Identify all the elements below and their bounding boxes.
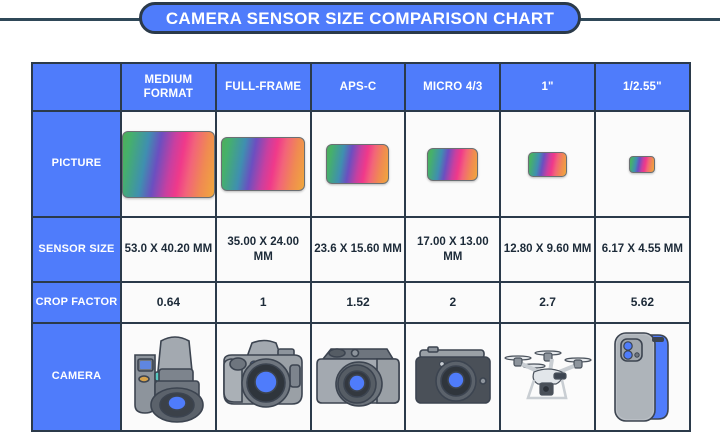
sensor-size-micro-43: 17.00 X 13.00 MM (405, 217, 500, 282)
header-corner-cell (32, 63, 121, 111)
micro-43-sensor-swatch (427, 148, 478, 181)
sensor-swatch-cell-medium-format (121, 111, 216, 217)
table-row-sensor-size: SENSOR SIZE 53.0 X 40.20 MM 35.00 X 24.0… (32, 217, 690, 282)
column-header-one-inch: 1" (500, 63, 595, 111)
crop-factor-medium-format: 0.64 (121, 282, 216, 323)
sensor-swatch-cell-micro-43 (405, 111, 500, 217)
sensor-size-one-2-55: 6.17 X 4.55 MM (595, 217, 690, 282)
crop-factor-one-2-55: 5.62 (595, 282, 690, 323)
medium-format-camera-illustration (125, 329, 211, 425)
crop-factor-one-inch: 2.7 (500, 282, 595, 323)
one-2-55-sensor-swatch (629, 156, 655, 173)
sensor-swatch-cell-one-inch (500, 111, 595, 217)
camera-cell-one-inch (500, 323, 595, 431)
camera-cell-one-2-55 (595, 323, 690, 431)
column-header-micro-43: MICRO 4/3 (405, 63, 500, 111)
mirrorless-camera-illustration (315, 339, 401, 415)
aps-c-sensor-swatch (326, 144, 389, 184)
table-header-row: MEDIUM FORMAT FULL-FRAME APS-C MICRO 4/3… (32, 63, 690, 111)
crop-factor-full-frame: 1 (216, 282, 311, 323)
camera-cell-micro-43 (405, 323, 500, 431)
sensor-size-one-inch: 12.80 X 9.60 MM (500, 217, 595, 282)
sensor-swatch-cell-one-2-55 (595, 111, 690, 217)
column-header-full-frame: FULL-FRAME (216, 63, 311, 111)
drone-illustration (504, 346, 592, 408)
row-label-picture: PICTURE (32, 111, 121, 217)
sensor-size-medium-format: 53.0 X 40.20 MM (121, 217, 216, 282)
one-inch-sensor-swatch (528, 152, 567, 177)
camera-cell-full-frame (216, 323, 311, 431)
table-row-camera: CAMERA (32, 323, 690, 431)
column-header-medium-format: MEDIUM FORMAT (121, 63, 216, 111)
compact-camera-illustration (412, 344, 494, 410)
camera-cell-medium-format (121, 323, 216, 431)
crop-factor-aps-c: 1.52 (311, 282, 406, 323)
sensor-swatch-cell-full-frame (216, 111, 311, 217)
column-header-one-2-55: 1/2.55" (595, 63, 690, 111)
sensor-size-aps-c: 23.6 X 15.60 MM (311, 217, 406, 282)
crop-factor-micro-43: 2 (405, 282, 500, 323)
sensor-size-comparison-infographic: CAMERA SENSOR SIZE COMPARISON CHART MEDI… (0, 0, 720, 437)
column-header-aps-c: APS-C (311, 63, 406, 111)
medium-format-sensor-swatch (122, 131, 215, 198)
comparison-table: MEDIUM FORMAT FULL-FRAME APS-C MICRO 4/3… (31, 62, 691, 432)
row-label-crop-factor: CROP FACTOR (32, 282, 121, 323)
row-label-sensor-size: SENSOR SIZE (32, 217, 121, 282)
table-row-crop-factor: CROP FACTOR 0.64 1 1.52 2 2.7 5.62 (32, 282, 690, 323)
full-frame-sensor-swatch (221, 137, 305, 191)
title-banner: CAMERA SENSOR SIZE COMPARISON CHART (139, 2, 581, 34)
row-label-camera: CAMERA (32, 323, 121, 431)
camera-cell-aps-c (311, 323, 406, 431)
sensor-size-full-frame: 35.00 X 24.00 MM (216, 217, 311, 282)
smartphone-illustration (610, 329, 674, 425)
dslr-camera-illustration (218, 335, 308, 419)
sensor-swatch-cell-aps-c (311, 111, 406, 217)
page-title: CAMERA SENSOR SIZE COMPARISON CHART (166, 10, 554, 27)
table-row-picture: PICTURE (32, 111, 690, 217)
